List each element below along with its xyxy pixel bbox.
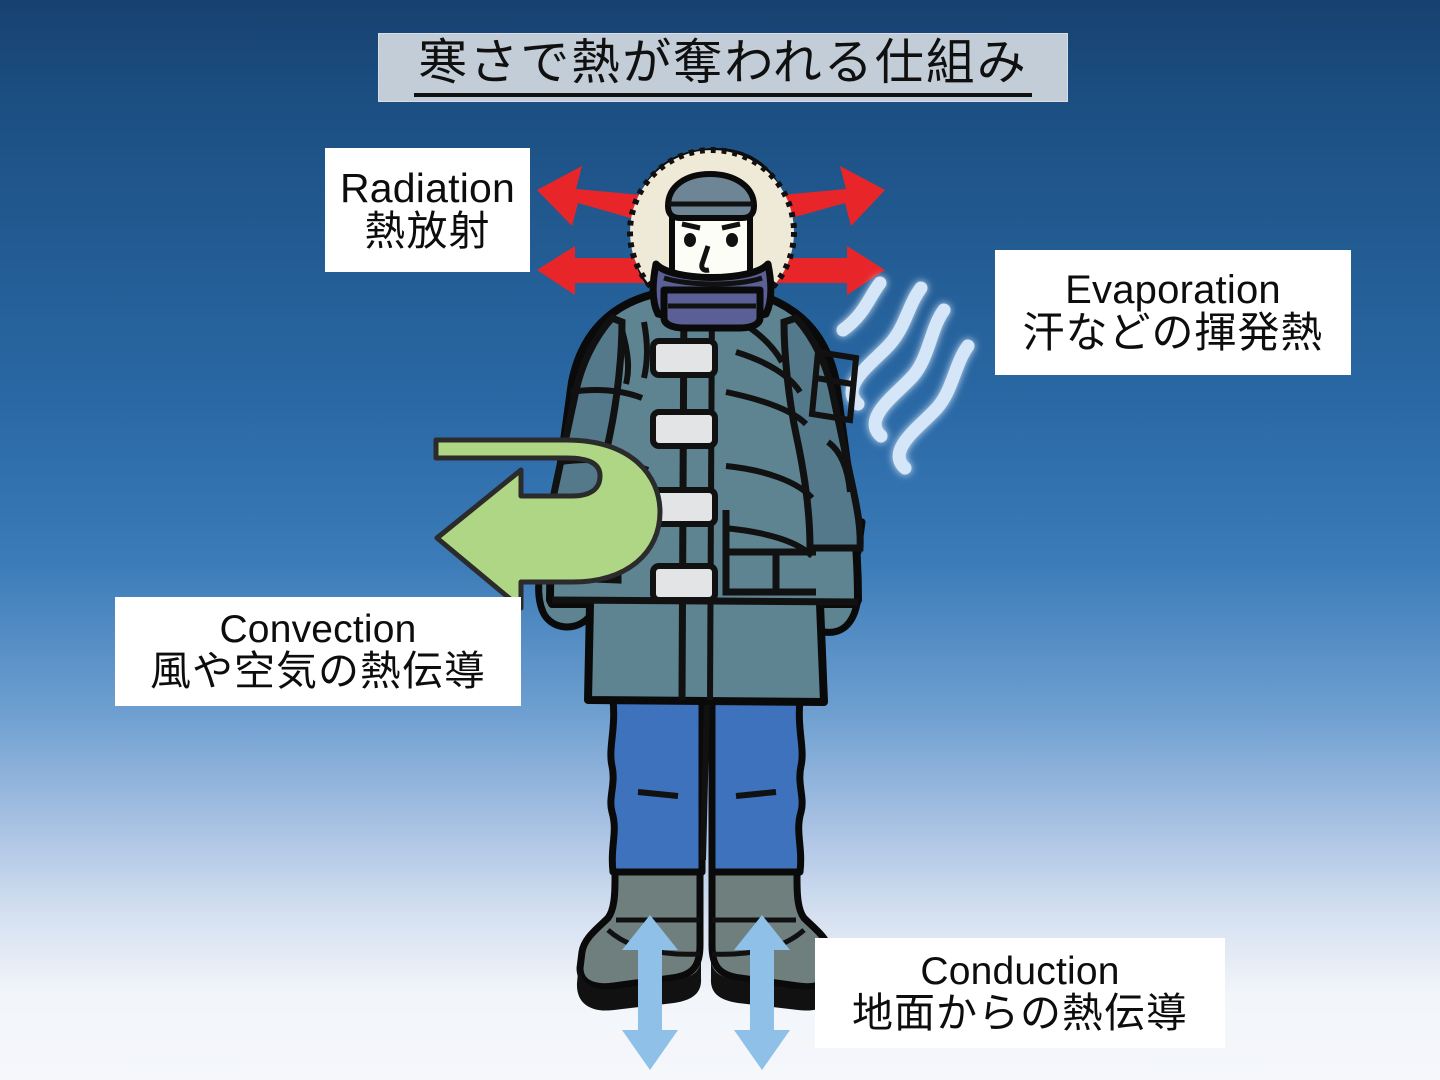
head-group <box>630 150 794 328</box>
illustration-artboard <box>0 0 1440 1080</box>
label-box-radiation[interactable]: Radiation 熱放射 <box>325 148 530 272</box>
convection-label-ja: 風や空気の熱伝導 <box>150 650 486 693</box>
snow-pant-knee-right <box>736 792 776 796</box>
parka-toggle-1 <box>653 341 715 375</box>
infographic-canvas: 寒さで熱が奪われる仕組み Radiation 熱放射 Evaporation 汗… <box>0 0 1440 1080</box>
snow-pant-right <box>712 700 802 872</box>
label-box-convection[interactable]: Convection 風や空気の熱伝導 <box>115 597 521 706</box>
conduction-label-ja: 地面からの熱伝導 <box>852 992 1188 1035</box>
radiation-arrow-lower-right <box>775 246 885 295</box>
neck-gaiter-lower <box>664 290 760 328</box>
snow-pant-crotch <box>703 700 707 860</box>
boots-group <box>577 862 835 1011</box>
beanie <box>668 174 754 218</box>
conduction-label-en: Conduction <box>920 951 1119 992</box>
convection-label-en: Convection <box>219 609 416 650</box>
evaporation-wave-group <box>843 283 968 468</box>
label-box-evaporation[interactable]: Evaporation 汗などの揮発熱 <box>995 250 1351 375</box>
label-box-conduction[interactable]: Conduction 地面からの熱伝導 <box>815 938 1225 1048</box>
radiation-label-ja: 熱放射 <box>365 210 491 253</box>
evaporation-label-ja: 汗などの揮発熱 <box>1022 311 1323 356</box>
evaporation-label-en: Evaporation <box>1065 269 1281 311</box>
parka-toggle-4 <box>653 566 715 600</box>
radiation-arrow-lower-left <box>537 246 647 295</box>
radiation-label-en: Radiation <box>340 167 515 210</box>
page-title-box: 寒さで熱が奪われる仕組み <box>378 33 1068 102</box>
snow-pant-left <box>611 700 702 872</box>
conduction-arrow-group <box>622 915 790 1070</box>
parka-toggle-2 <box>653 412 715 446</box>
snow-pant-knee-left <box>638 792 678 796</box>
snow-pants-group <box>611 700 802 872</box>
evaporation-wave-4 <box>899 346 968 468</box>
page-title: 寒さで熱が奪われる仕組み <box>414 38 1032 96</box>
eye-left <box>684 233 696 247</box>
eye-right <box>726 233 738 247</box>
